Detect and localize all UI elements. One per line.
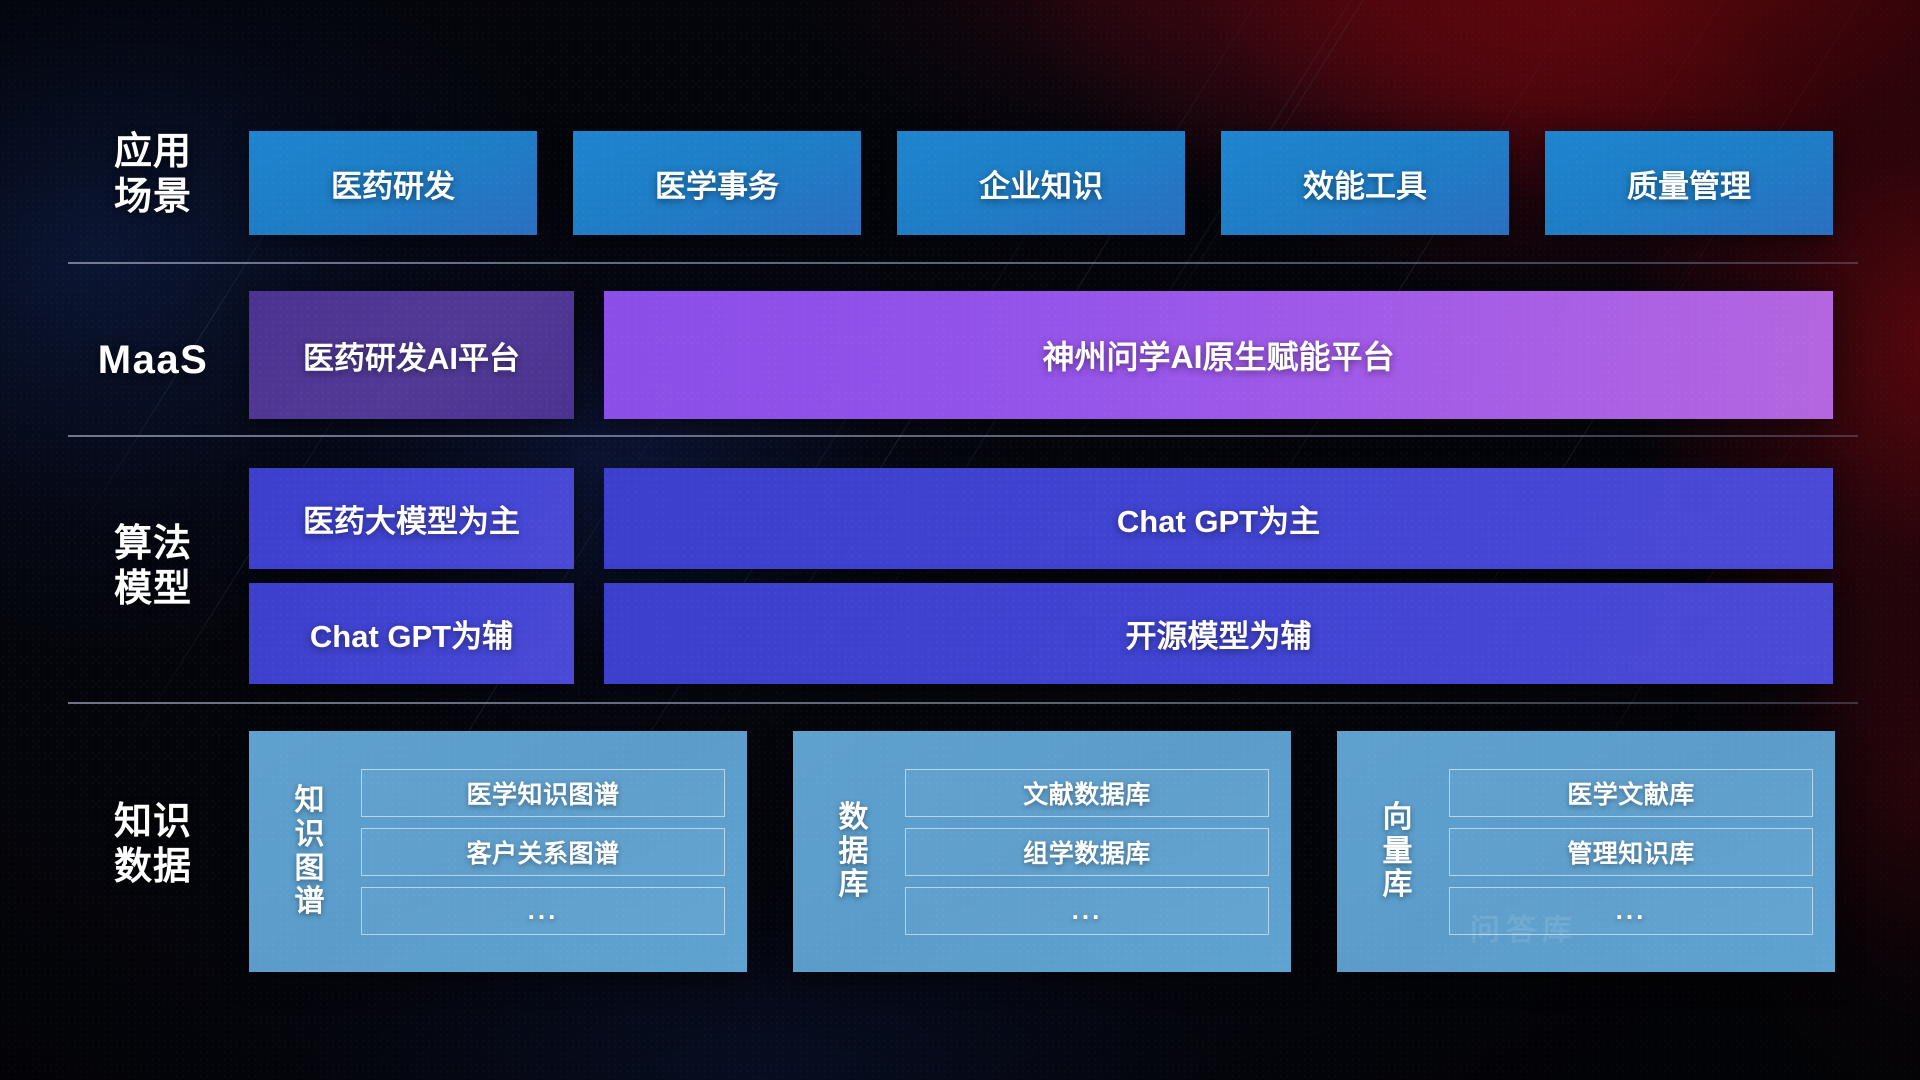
row-label-algorithm-model: 算法 模型 xyxy=(68,522,238,612)
app-card-4-label: 质量管理 xyxy=(1627,161,1751,206)
knowledge-item[interactable]: 医学文献库 xyxy=(1449,769,1813,817)
maas-card-1-label: 神州问学AI原生赋能平台 xyxy=(1042,332,1394,378)
knowledge-item[interactable]: 文献数据库 xyxy=(905,769,1269,817)
algo-card-1[interactable]: Chat GPT为主 xyxy=(604,468,1833,569)
knowledge-group-vector-store[interactable]: 向 量 库 医学文献库 管理知识库 ... xyxy=(1337,731,1835,972)
knowledge-item[interactable]: 客户关系图谱 xyxy=(361,828,725,876)
divider-after-application-scenarios xyxy=(68,262,1858,264)
knowledge-item-more[interactable]: ... xyxy=(361,887,725,935)
app-card-0[interactable]: 医药研发 xyxy=(249,131,537,235)
app-card-2-label: 企业知识 xyxy=(979,161,1103,206)
row-label-knowledge-data: 知识 数据 xyxy=(68,800,238,890)
knowledge-group-1-vertical-label: 数 据 库 xyxy=(821,801,887,902)
app-card-4[interactable]: 质量管理 xyxy=(1545,131,1833,235)
knowledge-group-0-items: 医学知识图谱 客户关系图谱 ... xyxy=(361,769,725,935)
maas-card-shenzhou-platform[interactable]: 神州问学AI原生赋能平台 xyxy=(604,291,1833,419)
knowledge-item[interactable]: 管理知识库 xyxy=(1449,828,1813,876)
algo-card-0-label: 医药大模型为主 xyxy=(303,496,520,541)
knowledge-group-knowledge-graph[interactable]: 知 识 图 谱 医学知识图谱 客户关系图谱 ... xyxy=(249,731,747,972)
app-card-2[interactable]: 企业知识 xyxy=(897,131,1185,235)
algo-card-2-label: Chat GPT为辅 xyxy=(310,611,513,656)
knowledge-group-2-vertical-label: 向 量 库 xyxy=(1365,801,1431,902)
knowledge-item-more[interactable]: ... xyxy=(1449,887,1813,935)
knowledge-item[interactable]: 组学数据库 xyxy=(905,828,1269,876)
maas-card-0-label: 医药研发AI平台 xyxy=(303,333,520,378)
app-card-0-label: 医药研发 xyxy=(331,161,455,206)
knowledge-group-1-items: 文献数据库 组学数据库 ... xyxy=(905,769,1269,935)
algo-card-3-label: 开源模型为辅 xyxy=(1126,611,1312,656)
app-card-3-label: 效能工具 xyxy=(1303,161,1427,206)
knowledge-group-0-vertical-label: 知 识 图 谱 xyxy=(277,784,343,918)
knowledge-item[interactable]: 医学知识图谱 xyxy=(361,769,725,817)
algo-card-3[interactable]: 开源模型为辅 xyxy=(604,583,1833,684)
algo-card-1-label: Chat GPT为主 xyxy=(1117,496,1320,541)
knowledge-item-more[interactable]: ... xyxy=(905,887,1269,935)
algo-card-2[interactable]: Chat GPT为辅 xyxy=(249,583,574,684)
knowledge-group-database[interactable]: 数 据 库 文献数据库 组学数据库 ... xyxy=(793,731,1291,972)
app-card-1[interactable]: 医学事务 xyxy=(573,131,861,235)
algo-card-0[interactable]: 医药大模型为主 xyxy=(249,468,574,569)
divider-after-maas xyxy=(68,435,1858,437)
knowledge-group-2-items: 医学文献库 管理知识库 ... xyxy=(1449,769,1813,935)
app-card-1-label: 医学事务 xyxy=(655,161,779,206)
row-label-maas: MaaS xyxy=(68,337,238,384)
diagram-canvas: 应用 场景 医药研发 医学事务 企业知识 效能工具 质量管理 MaaS 医药研发… xyxy=(0,0,1920,1080)
divider-after-algorithm-model xyxy=(68,702,1858,704)
diagram-content: 应用 场景 医药研发 医学事务 企业知识 效能工具 质量管理 MaaS 医药研发… xyxy=(0,0,1920,1080)
maas-card-medical-ai-platform[interactable]: 医药研发AI平台 xyxy=(249,291,574,419)
app-card-3[interactable]: 效能工具 xyxy=(1221,131,1509,235)
row-label-application-scenarios: 应用 场景 xyxy=(68,130,238,220)
